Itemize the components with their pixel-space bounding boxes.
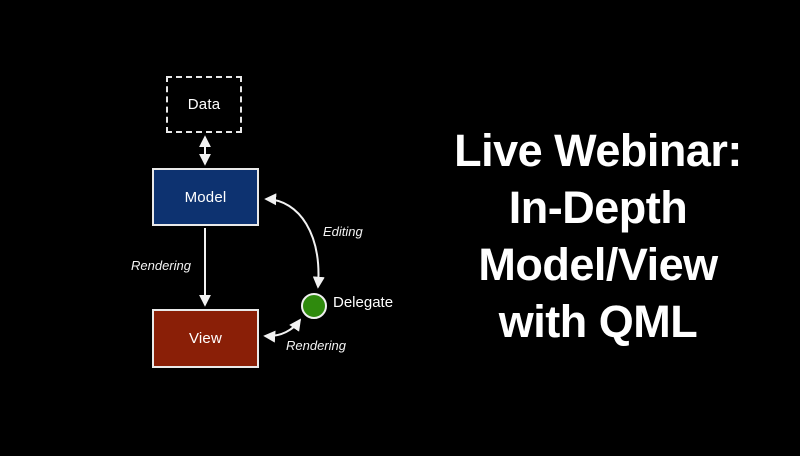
diagram-node-model-label: Model xyxy=(185,189,227,206)
edge-label-rendering-model-view: Rendering xyxy=(131,258,191,273)
promo-title-line-1: Live Webinar: xyxy=(398,122,798,179)
promo-title-line-3: Model/View xyxy=(398,236,798,293)
model-view-delegate-diagram: Data Model View Delegate Editing Renderi… xyxy=(0,0,420,456)
edge-label-rendering-delegate-view: Rendering xyxy=(286,338,346,353)
promo-title-line-4: with QML xyxy=(398,293,798,350)
diagram-node-data: Data xyxy=(166,76,242,133)
edge-delegate-view xyxy=(265,320,300,336)
diagram-node-delegate-circle xyxy=(301,293,327,319)
promo-title-line-2: In-Depth xyxy=(398,179,798,236)
diagram-node-data-label: Data xyxy=(188,96,221,113)
edge-delegate-model xyxy=(266,199,318,287)
diagram-node-delegate-label: Delegate xyxy=(333,294,393,311)
diagram-node-view: View xyxy=(152,309,259,368)
edge-label-editing: Editing xyxy=(323,224,363,239)
diagram-node-view-label: View xyxy=(189,330,222,347)
promo-title: Live Webinar: In-Depth Model/View with Q… xyxy=(398,122,798,350)
promo-banner: Data Model View Delegate Editing Renderi… xyxy=(0,0,800,456)
diagram-node-model: Model xyxy=(152,168,259,226)
